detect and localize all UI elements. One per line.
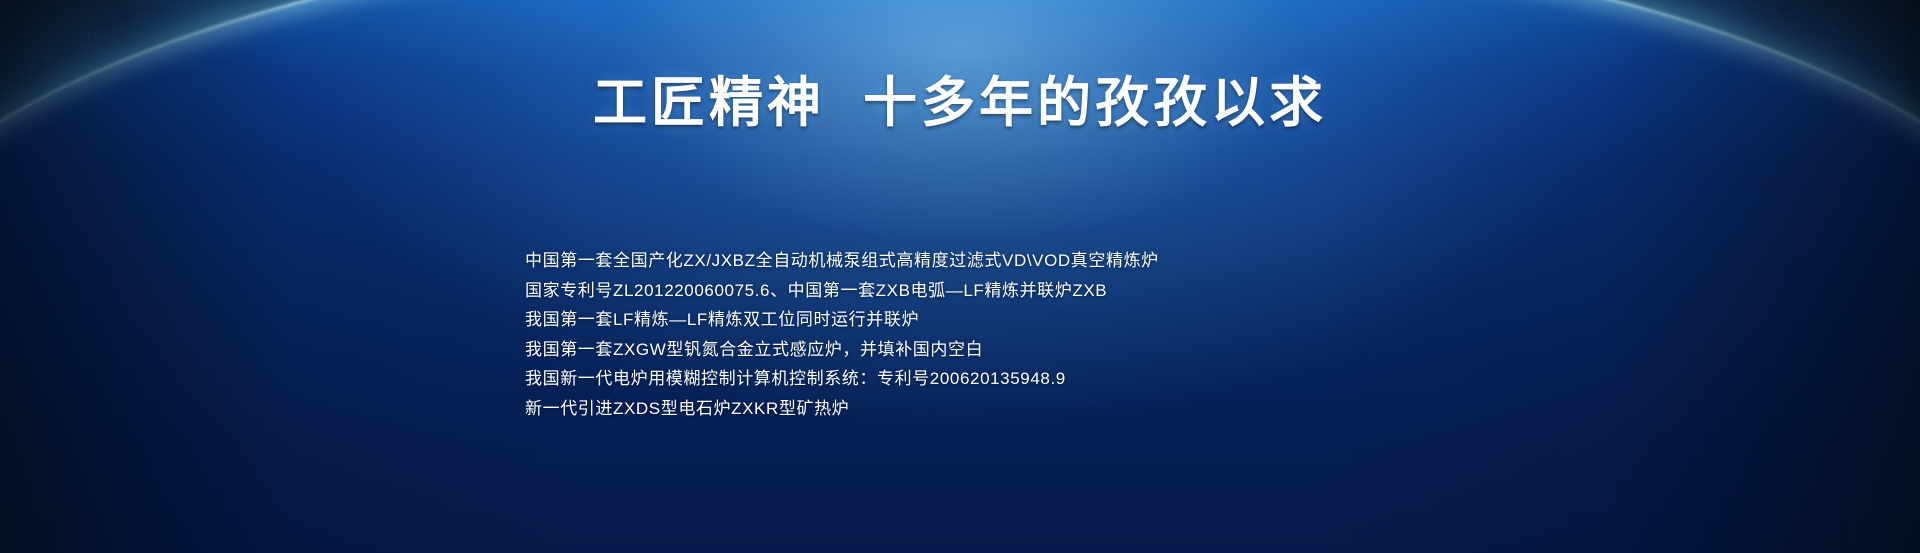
banner-content: 工匠精神 十多年的孜孜以求 中国第一套全国产化ZX/JXBZ全自动机械泵组式高精… (0, 0, 1920, 553)
banner-headline: 工匠精神 十多年的孜孜以求 (0, 74, 1920, 133)
achievement-list: 中国第一套全国产化ZX/JXBZ全自动机械泵组式高精度过滤式VD\VOD真空精炼… (525, 246, 1159, 423)
achievement-line: 新一代引进ZXDS型电石炉ZXKR型矿热炉 (525, 394, 1159, 424)
achievement-line: 我国新一代电炉用模糊控制计算机控制系统：专利号200620135948.9 (525, 364, 1159, 394)
achievement-line: 我国第一套ZXGW型钒氮合金立式感应炉，并填补国内空白 (525, 335, 1159, 365)
hero-banner: 工匠精神 十多年的孜孜以求 中国第一套全国产化ZX/JXBZ全自动机械泵组式高精… (0, 0, 1920, 553)
achievement-line: 我国第一套LF精炼—LF精炼双工位同时运行并联炉 (525, 305, 1159, 335)
achievement-line: 中国第一套全国产化ZX/JXBZ全自动机械泵组式高精度过滤式VD\VOD真空精炼… (525, 246, 1159, 276)
achievement-line: 国家专利号ZL201220060075.6、中国第一套ZXB电弧—LF精炼并联炉… (525, 276, 1159, 306)
